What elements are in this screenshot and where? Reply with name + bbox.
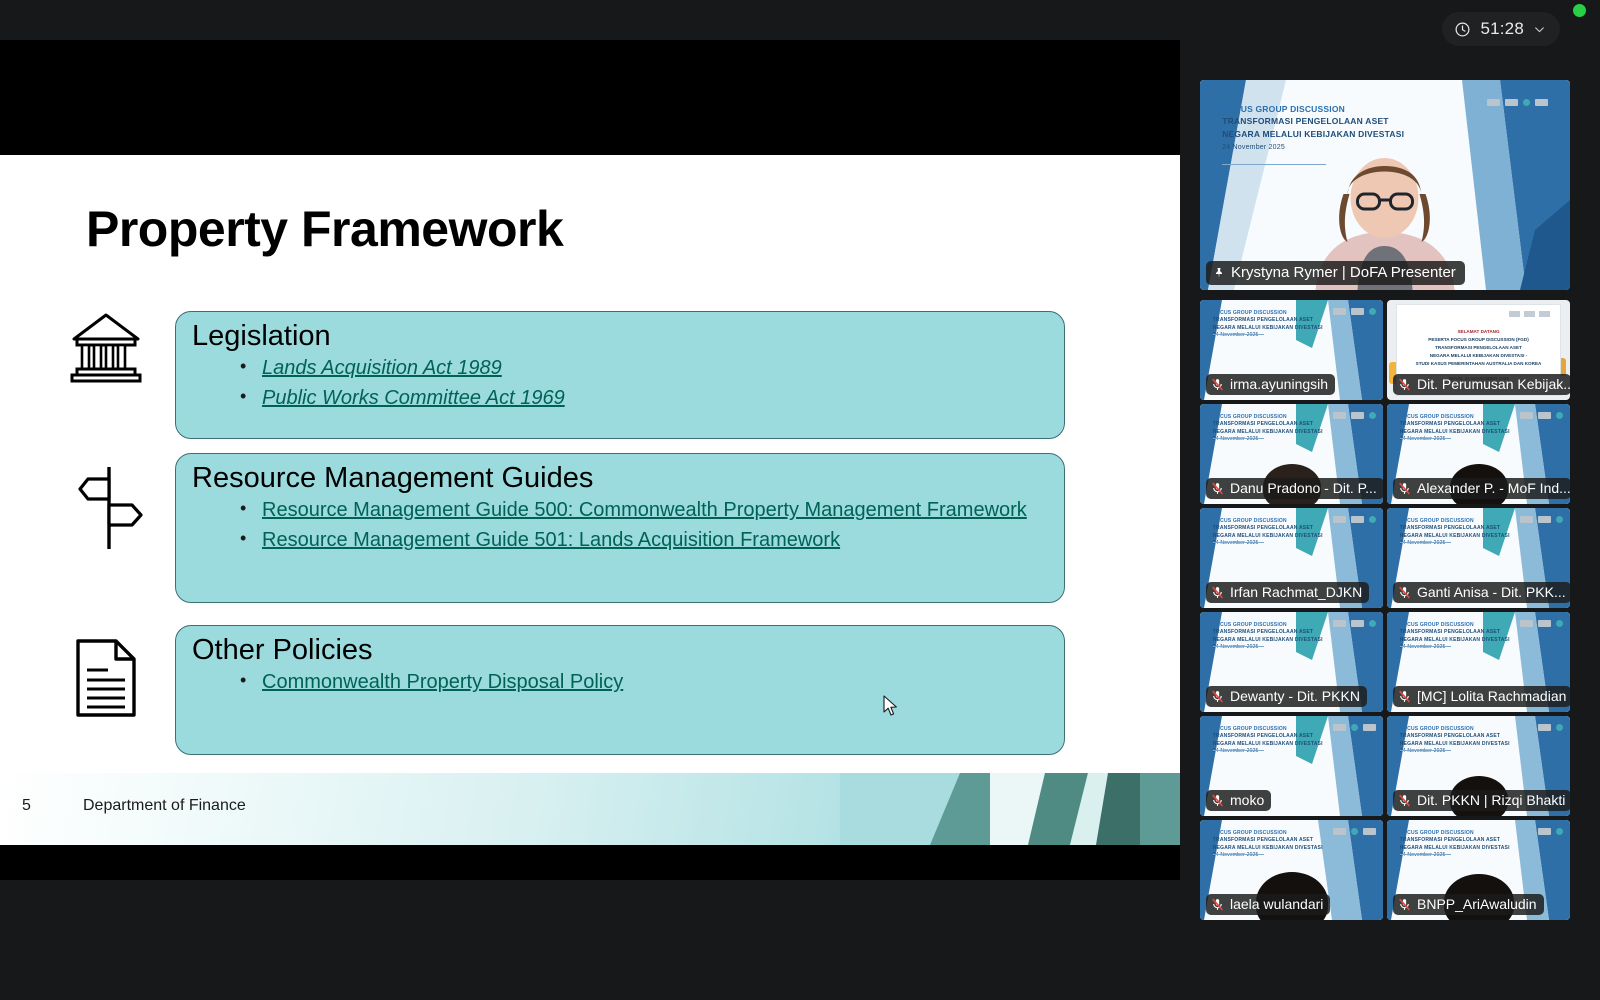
logo-icon xyxy=(1556,724,1563,731)
deck-line-1: FOCUS GROUP DISCUSSION xyxy=(1213,830,1287,836)
mic-off-icon xyxy=(1211,689,1224,704)
slide-footer: 5 Department of Finance xyxy=(0,773,1180,845)
section-legislation: Legislation Lands Acquisition Act 1989 P… xyxy=(175,311,1065,439)
logo-icon xyxy=(1351,516,1364,523)
deck-line-3: NEGARA MELALUI KEBIJAKAN DIVESTASI xyxy=(1213,533,1323,539)
deck-line-1: FOCUS GROUP DISCUSSION xyxy=(1400,622,1474,628)
meeting-timer[interactable]: 51:28 xyxy=(1442,12,1560,46)
logo-icon xyxy=(1520,620,1533,627)
logo-icon xyxy=(1539,311,1550,317)
participant-name: BNPP_AriAwaludin xyxy=(1417,896,1537,912)
mic-off-icon xyxy=(1398,689,1411,704)
deck-line-1: FOCUS GROUP DISCUSSION xyxy=(1400,830,1474,836)
participant-name: Dit. PKKN | Rizqi Bhakti xyxy=(1417,792,1565,808)
logo-icon xyxy=(1369,412,1376,419)
deck-line-2: TRANSFORMASI PENGELOLAAN ASET xyxy=(1213,525,1313,531)
participant-tile[interactable]: FOCUS GROUP DISCUSSION TRANSFORMASI PENG… xyxy=(1200,820,1383,920)
participant-tile[interactable]: FOCUS GROUP DISCUSSION TRANSFORMASI PENG… xyxy=(1200,508,1383,608)
mic-off-icon xyxy=(1398,897,1411,912)
participant-name: moko xyxy=(1230,792,1264,808)
participant-tile[interactable]: FOCUS GROUP DISCUSSION TRANSFORMASI PENG… xyxy=(1387,508,1570,608)
deck-line-1: FOCUS GROUP DISCUSSION xyxy=(1213,726,1287,732)
deck-line-3: NEGARA MELALUI KEBIJAKAN DIVESTASI xyxy=(1400,429,1510,435)
deck-line-3: NEGARA MELALUI KEBIJAKAN DIVESTASI xyxy=(1400,741,1510,747)
logo-icon xyxy=(1351,620,1364,627)
participant-name-badge: Dit. PKKN | Rizqi Bhakti xyxy=(1393,790,1570,811)
other-policies-link-list: Commonwealth Property Disposal Policy xyxy=(236,669,1064,708)
logo-icon xyxy=(1369,308,1376,315)
deck-line-1: FOCUS GROUP DISCUSSION xyxy=(1222,104,1345,114)
deck-line-2: TRANSFORMASI PENGELOLAAN ASET xyxy=(1400,733,1500,739)
presentation-slide: Property Framework xyxy=(0,155,1180,845)
participant-rail: FOCUS GROUP DISCUSSION TRANSFORMASI PENG… xyxy=(1200,80,1570,920)
logo-icon xyxy=(1363,724,1376,731)
deck-line-1: FOCUS GROUP DISCUSSION xyxy=(1400,518,1474,524)
logo-icon xyxy=(1351,412,1364,419)
mic-off-icon xyxy=(1398,481,1411,496)
deck-line-2: TRANSFORMASI PENGELOLAAN ASET xyxy=(1213,733,1313,739)
legislation-link-list: Lands Acquisition Act 1989 Public Works … xyxy=(236,355,1064,423)
deck-line-2: TRANSFORMASI PENGELOLAAN ASET xyxy=(1222,116,1389,126)
deck-line-2: TRANSFORMASI PENGELOLAAN ASET xyxy=(1213,421,1313,427)
classical-building-icon xyxy=(70,310,142,384)
deck-line-3: NEGARA MELALUI KEBIJAKAN DIVESTASI xyxy=(1213,845,1323,851)
speaker-name: Krystyna Rymer | DoFA Presenter xyxy=(1231,264,1456,281)
logo-prospera-icon xyxy=(1523,99,1530,106)
deck-line-2: TRANSFORMASI PENGELOLAAN ASET xyxy=(1213,629,1313,635)
meeting-timer-value: 51:28 xyxy=(1480,19,1524,39)
mic-off-icon xyxy=(1398,585,1411,600)
link-property-disposal-policy[interactable]: Commonwealth Property Disposal Policy xyxy=(262,671,623,693)
slide-page-number: 5 xyxy=(22,797,31,815)
welcome-line-4: NEGARA MELALUI KEBIJAKAN DIVESTASI - xyxy=(1430,353,1528,358)
logo-icon xyxy=(1333,828,1346,835)
participant-grid: FOCUS GROUP DISCUSSION TRANSFORMASI PENG… xyxy=(1200,300,1570,920)
deck-line-1: FOCUS GROUP DISCUSSION xyxy=(1213,310,1287,316)
participant-name: Dit. Perumusan Kebijak... xyxy=(1417,376,1570,392)
deck-line-2: TRANSFORMASI PENGELOLAAN ASET xyxy=(1213,837,1313,843)
logo-icon xyxy=(1351,724,1358,731)
participant-tile[interactable]: FOCUS GROUP DISCUSSION TRANSFORMASI PENG… xyxy=(1387,612,1570,712)
deck-line-3: NEGARA MELALUI KEBIJAKAN DIVESTASI xyxy=(1213,741,1323,747)
participant-name: Dewanty - Dit. PKKN xyxy=(1230,688,1360,704)
deck-line-3: NEGARA MELALUI KEBIJAKAN DIVESTASI xyxy=(1400,637,1510,643)
speaker-video: FOCUS GROUP DISCUSSION TRANSFORMASI PENG… xyxy=(1200,80,1570,290)
logo-icon xyxy=(1351,308,1364,315)
link-lands-acquisition-act[interactable]: Lands Acquisition Act 1989 xyxy=(262,357,502,379)
logo-icon xyxy=(1333,308,1346,315)
welcome-line-5: STUDI KASUS PEMERINTAHAN AUSTRALIA DAN K… xyxy=(1416,361,1542,366)
signpost-icon xyxy=(78,465,148,551)
list-item: Resource Management Guide 500: Commonwea… xyxy=(236,497,1040,524)
welcome-line-3: TRANSFORMASI PENGELOLAAN ASET xyxy=(1435,345,1522,350)
speaker-name-badge: Krystyna Rymer | DoFA Presenter xyxy=(1206,261,1465,285)
logo-icon xyxy=(1369,620,1376,627)
mouse-cursor xyxy=(883,695,899,717)
participant-name-badge: BNPP_AriAwaludin xyxy=(1393,894,1544,915)
participant-name: [MC] Lolita Rachmadian xyxy=(1417,688,1566,704)
welcome-line-2: PESERTA FOCUS GROUP DISCUSSION (FGD) xyxy=(1428,337,1528,342)
logo-icon xyxy=(1556,412,1563,419)
footer-polygon-artwork xyxy=(840,773,1180,845)
logo-icon xyxy=(1524,311,1535,317)
deck-line-3: NEGARA MELALUI KEBIJAKAN DIVESTASI xyxy=(1213,637,1323,643)
logo-icon xyxy=(1538,516,1551,523)
deck-line-1: FOCUS GROUP DISCUSSION xyxy=(1213,622,1287,628)
deck-line-1: FOCUS GROUP DISCUSSION xyxy=(1400,414,1474,420)
logo-icon xyxy=(1556,828,1563,835)
recording-status-dot xyxy=(1573,4,1586,17)
participant-name-badge: Ganti Anisa - Dit. PKK... xyxy=(1393,582,1570,603)
participant-name-badge: Dit. Perumusan Kebijak... xyxy=(1393,374,1570,395)
section-heading: Other Policies xyxy=(176,626,1064,669)
deck-line-1: FOCUS GROUP DISCUSSION xyxy=(1213,518,1287,524)
participant-name: Danu Pradono - Dit. P... xyxy=(1230,480,1377,496)
shared-screen-stage[interactable]: Property Framework xyxy=(0,40,1180,880)
participant-tile[interactable]: FOCUS GROUP DISCUSSION TRANSFORMASI PENG… xyxy=(1200,716,1383,816)
logo-icon xyxy=(1333,620,1346,627)
deck-line-2: TRANSFORMASI PENGELOLAAN ASET xyxy=(1400,525,1500,531)
deck-line-4: 24 November 2025 xyxy=(1222,144,1285,151)
deck-line-2: TRANSFORMASI PENGELOLAAN ASET xyxy=(1400,837,1500,843)
deck-line-3: NEGARA MELALUI KEBIJAKAN DIVESTASI xyxy=(1213,325,1323,331)
participant-tile[interactable]: FOCUS GROUP DISCUSSION TRANSFORMASI PENG… xyxy=(1200,300,1383,400)
rmg-link-list: Resource Management Guide 500: Commonwea… xyxy=(236,497,1064,565)
link-rmg-501[interactable]: Resource Management Guide 501: Lands Acq… xyxy=(262,529,840,551)
participant-name-badge: moko xyxy=(1206,790,1271,811)
participant-name-badge: laela wulandari xyxy=(1206,894,1330,915)
logo-icon xyxy=(1333,724,1346,731)
participant-tile[interactable]: FOCUS GROUP DISCUSSION TRANSFORMASI PENG… xyxy=(1200,612,1383,712)
deck-line-2: TRANSFORMASI PENGELOLAAN ASET xyxy=(1400,421,1500,427)
section-heading: Legislation xyxy=(176,312,1064,355)
participant-tile[interactable]: FOCUS GROUP DISCUSSION TRANSFORMASI PENG… xyxy=(1200,404,1383,504)
mic-off-icon xyxy=(1211,897,1224,912)
participant-name: irma.ayuningsih xyxy=(1230,376,1328,392)
chevron-down-icon xyxy=(1533,23,1546,36)
participant-tile[interactable]: FOCUS GROUP DISCUSSION TRANSFORMASI PENG… xyxy=(1387,404,1570,504)
logo-australian-government-icon xyxy=(1505,99,1518,106)
deck-line-3: NEGARA MELALUI KEBIJAKAN DIVESTASI xyxy=(1400,533,1510,539)
deck-line-1: FOCUS GROUP DISCUSSION xyxy=(1213,414,1287,420)
active-speaker-tile[interactable]: FOCUS GROUP DISCUSSION TRANSFORMASI PENG… xyxy=(1200,80,1570,290)
deck-line-3: NEGARA MELALUI KEBIJAKAN DIVESTASI xyxy=(1213,429,1323,435)
participant-name-badge: Danu Pradono - Dit. P... xyxy=(1206,478,1383,499)
clock-icon xyxy=(1454,21,1471,38)
participant-name-badge: Alexander P. - MoF Ind... xyxy=(1393,478,1570,499)
logo-icon xyxy=(1333,516,1346,523)
logo-icon xyxy=(1369,516,1376,523)
slide-footer-organisation: Department of Finance xyxy=(83,797,246,815)
logo-icon xyxy=(1538,724,1551,731)
list-item: Commonwealth Property Disposal Policy xyxy=(236,669,1040,696)
list-item: Public Works Committee Act 1969 xyxy=(236,385,1040,412)
participant-name-badge: Irfan Rachmat_DJKN xyxy=(1206,582,1369,603)
section-other-policies: Other Policies Commonwealth Property Dis… xyxy=(175,625,1065,755)
logo-icon xyxy=(1556,620,1563,627)
deck-line-3: NEGARA MELALUI KEBIJAKAN DIVESTASI xyxy=(1400,845,1510,851)
logo-icon xyxy=(1333,412,1346,419)
pin-icon xyxy=(1213,266,1225,280)
mic-off-icon xyxy=(1398,793,1411,808)
section-heading: Resource Management Guides xyxy=(176,454,1064,497)
participant-name: Irfan Rachmat_DJKN xyxy=(1230,584,1362,600)
list-item: Resource Management Guide 501: Lands Acq… xyxy=(236,527,1040,554)
link-public-works-committee-act[interactable]: Public Works Committee Act 1969 xyxy=(262,387,565,409)
section-resource-management-guides: Resource Management Guides Resource Mana… xyxy=(175,453,1065,603)
page-title: Property Framework xyxy=(86,200,563,258)
participant-tile[interactable]: FOCUS GROUP DISCUSSION TRANSFORMASI PENG… xyxy=(1387,820,1570,920)
mic-off-icon xyxy=(1211,377,1224,392)
deck-line-2: TRANSFORMASI PENGELOLAAN ASET xyxy=(1400,629,1500,635)
deck-line-1: FOCUS GROUP DISCUSSION xyxy=(1400,726,1474,732)
logo-kamco-icon xyxy=(1535,99,1548,106)
logo-icon xyxy=(1538,828,1551,835)
deck-line-2: TRANSFORMASI PENGELOLAAN ASET xyxy=(1213,317,1313,323)
participant-name: laela wulandari xyxy=(1230,896,1323,912)
participant-name: Alexander P. - MoF Ind... xyxy=(1417,480,1570,496)
participant-name-badge: Dewanty - Dit. PKKN xyxy=(1206,686,1367,707)
welcome-line-1: SELAMAT DATANG xyxy=(1457,329,1499,334)
logo-icon xyxy=(1520,516,1533,523)
participant-name-badge: irma.ayuningsih xyxy=(1206,374,1335,395)
logo-kemenkeu-icon xyxy=(1487,99,1500,106)
participant-tile[interactable]: FOCUS GROUP DISCUSSION TRANSFORMASI PENG… xyxy=(1387,716,1570,816)
logo-icon xyxy=(1351,828,1358,835)
mic-off-icon xyxy=(1211,585,1224,600)
mic-off-icon xyxy=(1211,793,1224,808)
logo-icon xyxy=(1556,516,1563,523)
mic-off-icon xyxy=(1211,481,1224,496)
logo-icon xyxy=(1538,412,1551,419)
logo-icon xyxy=(1363,828,1376,835)
logo-icon xyxy=(1520,412,1533,419)
logo-icon xyxy=(1538,620,1551,627)
participant-name-badge: [MC] Lolita Rachmadian xyxy=(1393,686,1570,707)
document-icon xyxy=(74,638,138,718)
participant-name: Ganti Anisa - Dit. PKK... xyxy=(1417,584,1566,600)
meeting-window: 51:28 Property Framework xyxy=(0,0,1600,1000)
logo-icon xyxy=(1509,311,1520,317)
deck-line-3: NEGARA MELALUI KEBIJAKAN DIVESTASI xyxy=(1222,129,1404,139)
list-item: Lands Acquisition Act 1989 xyxy=(236,355,1040,382)
participant-tile[interactable]: SELAMAT DATANG PESERTA FOCUS GROUP DISCU… xyxy=(1387,300,1570,400)
mic-off-icon xyxy=(1398,377,1411,392)
link-rmg-500[interactable]: Resource Management Guide 500: Commonwea… xyxy=(262,499,1027,521)
